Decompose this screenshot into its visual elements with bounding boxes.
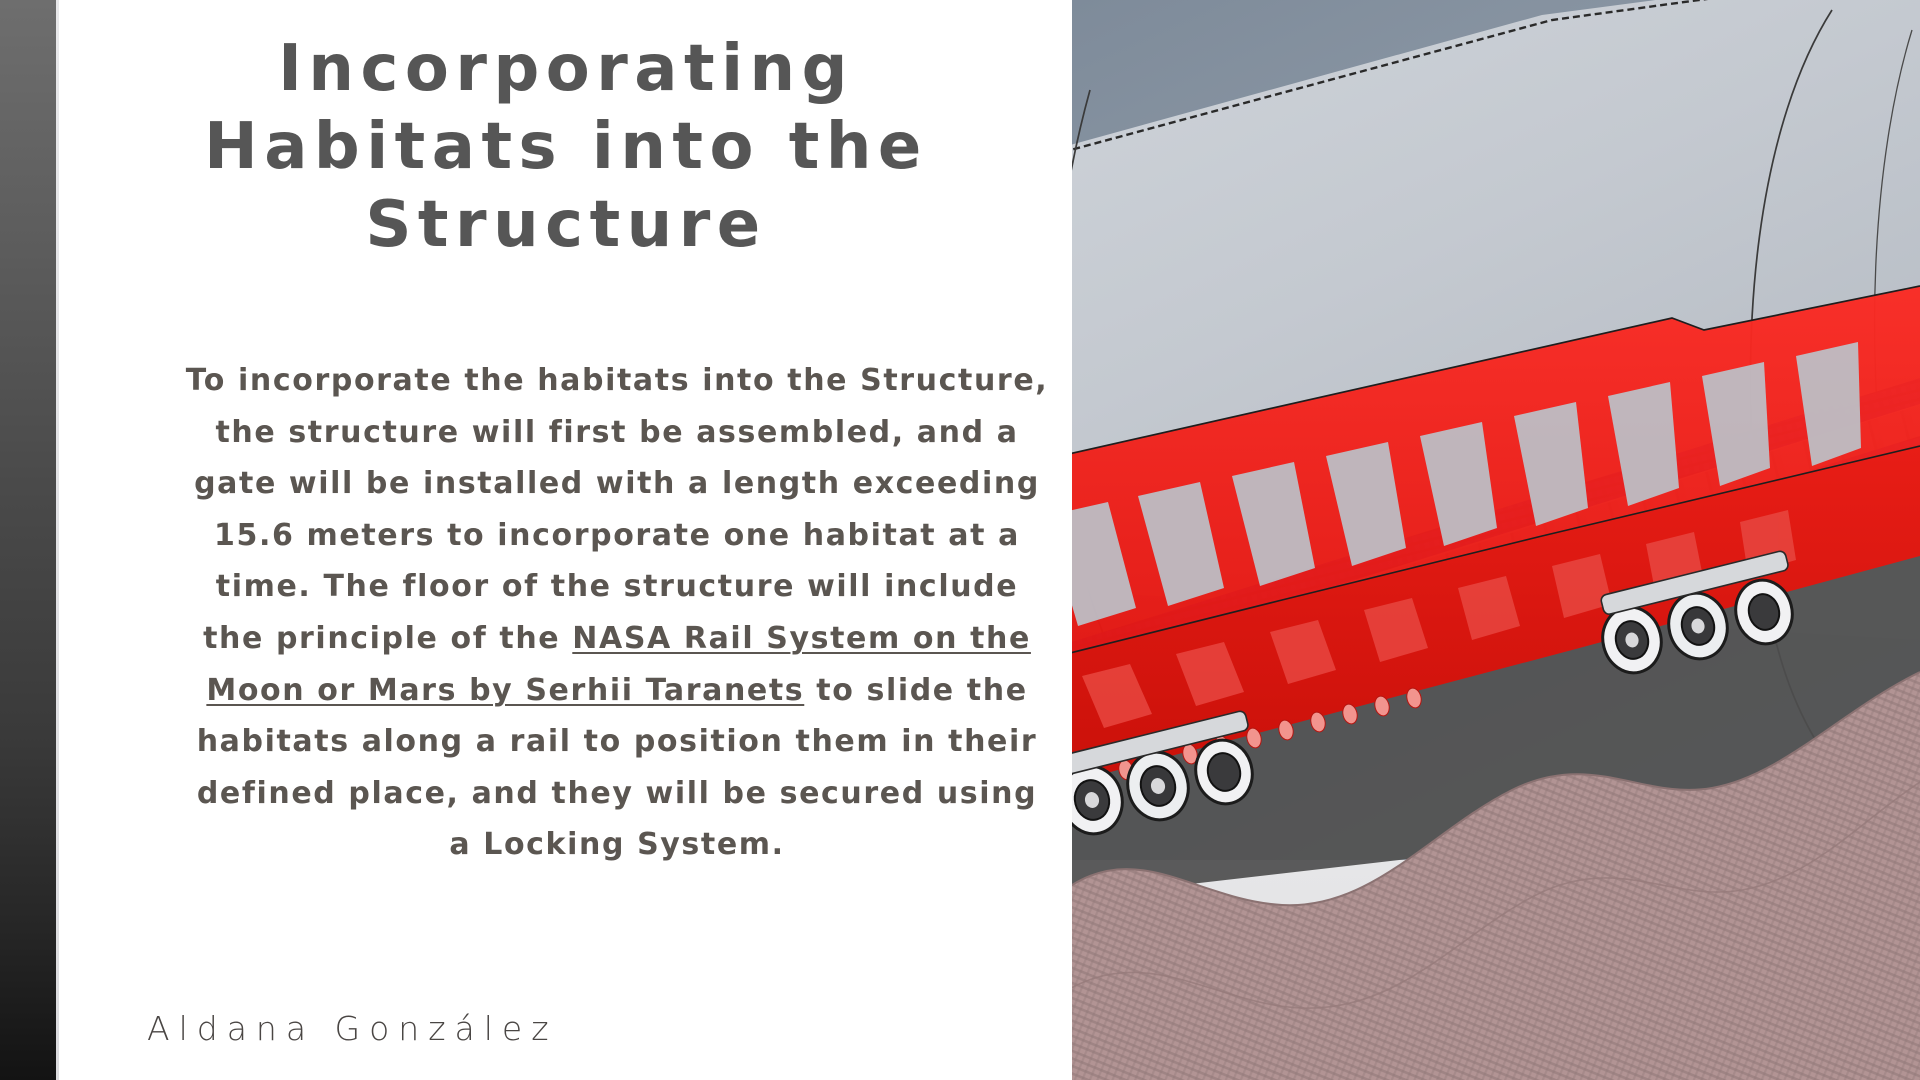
author-name: Aldana González [147, 1009, 558, 1048]
left-gradient-edge [0, 0, 56, 1080]
slide-title: Incorporating Habitats into the Structur… [111, 30, 1021, 264]
body-text-part-one: To incorporate the habitats into the Str… [186, 363, 1049, 656]
text-panel: Incorporating Habitats into the Structur… [59, 0, 1072, 1080]
presentation-slide: Incorporating Habitats into the Structur… [0, 0, 1920, 1080]
cad-render-image [1072, 0, 1920, 1080]
slide-body-text: To incorporate the habitats into the Str… [181, 355, 1053, 871]
cad-render-svg [1072, 0, 1920, 1080]
